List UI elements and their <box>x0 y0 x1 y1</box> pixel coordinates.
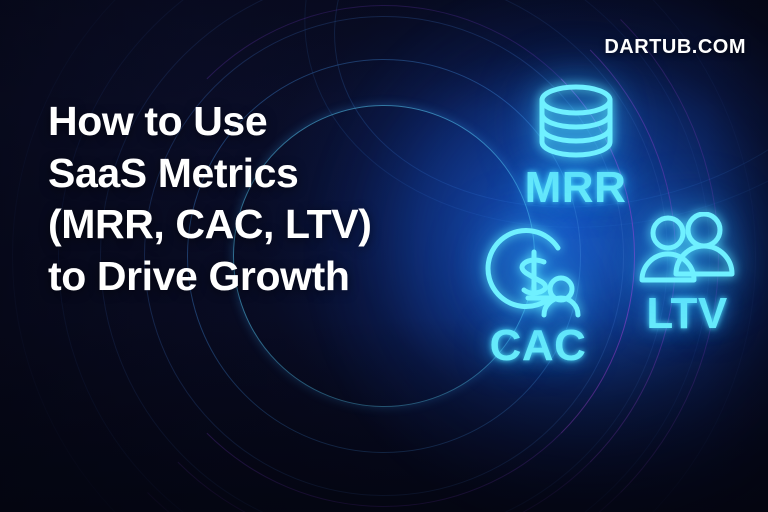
page-title-line-1: How to Use <box>48 96 438 148</box>
page-title: How to Use SaaS Metrics (MRR, CAC, LTV) … <box>48 96 438 303</box>
metric-mrr-label: MRR <box>525 163 627 212</box>
page-title-line-4: to Drive Growth <box>48 251 438 303</box>
brand-watermark: DARTUB.COM <box>604 36 746 59</box>
metric-ltv: LTV <box>612 212 762 336</box>
dollar-circle-person-icon <box>482 228 594 320</box>
poster-canvas: DARTUB.COM How to Use SaaS Metrics (MRR,… <box>0 0 768 512</box>
database-cylinder-icon <box>524 82 628 162</box>
metric-ltv-label: LTV <box>646 289 727 338</box>
page-title-line-2: SaaS Metrics <box>48 148 438 200</box>
two-people-icon <box>632 212 742 288</box>
page-title-line-3: (MRR, CAC, LTV) <box>48 199 438 251</box>
metric-mrr: MRR <box>498 82 653 210</box>
metric-cac: CAC <box>458 228 618 368</box>
metric-cac-label: CAC <box>490 321 587 370</box>
